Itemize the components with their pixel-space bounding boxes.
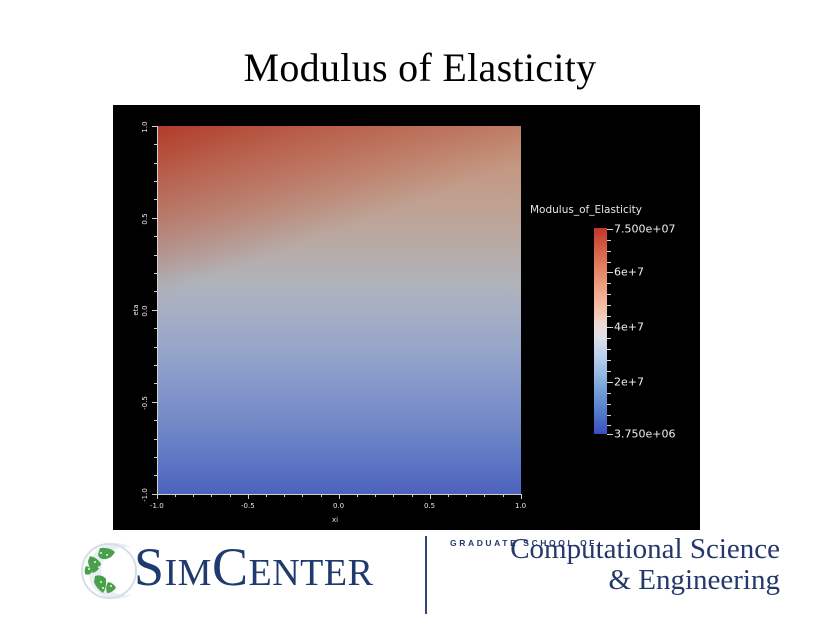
colorbar-tick — [607, 382, 613, 383]
y-tick-minor — [154, 457, 157, 458]
y-tick-major — [152, 126, 157, 127]
y-tick-minor — [154, 383, 157, 384]
colorbar-tick — [607, 360, 611, 361]
y-tick-minor — [154, 439, 157, 440]
x-tick-minor — [266, 494, 267, 497]
x-tick-label: 0.5 — [424, 502, 435, 510]
colorbar-tick — [607, 415, 611, 416]
colorbar-tick — [607, 393, 611, 394]
y-tick-major — [152, 218, 157, 219]
y-tick-minor — [154, 255, 157, 256]
colorbar-tick-label: 4e+7 — [614, 321, 644, 334]
y-tick-minor — [154, 199, 157, 200]
x-tick-major — [521, 494, 522, 499]
colorbar-tick — [607, 338, 611, 339]
x-tick-minor — [193, 494, 194, 497]
y-tick-minor — [154, 347, 157, 348]
y-tick-minor — [154, 236, 157, 237]
x-tick-minor — [357, 494, 358, 497]
x-tick-minor — [484, 494, 485, 497]
visualization-panel[interactable]: -1.0 -0.5 0.0 0.5 1.0 1.0 0.5 0.0 -0.5 -… — [113, 105, 700, 530]
x-tick-label: -1.0 — [150, 502, 164, 510]
colorbar-title: Modulus_of_Elasticity — [530, 204, 642, 216]
x-tick-label: 1.0 — [515, 502, 526, 510]
simcenter-wordmark: SimCenter — [134, 540, 373, 594]
x-tick-minor — [375, 494, 376, 497]
x-tick-minor — [393, 494, 394, 497]
y-tick-label: -1.0 — [141, 485, 149, 505]
logo-subtitle-line2: & Engineering — [440, 565, 780, 596]
logo-divider — [425, 536, 427, 614]
x-tick-minor — [175, 494, 176, 497]
colorbar-tick — [607, 272, 613, 273]
y-tick-label: 0.0 — [141, 301, 149, 321]
x-tick-major — [430, 494, 431, 499]
colorbar-tick — [607, 283, 611, 284]
y-tick-label: -0.5 — [141, 393, 149, 413]
colorbar-tick — [607, 240, 611, 241]
colorbar-tick — [607, 305, 611, 306]
colorbar-gradient[interactable] — [594, 228, 607, 434]
colorbar-tick-label: 3.750e+06 — [614, 428, 675, 441]
colorbar-tick — [607, 262, 611, 263]
x-tick-minor — [321, 494, 322, 497]
colorbar-tick-label: 7.500e+07 — [614, 223, 675, 236]
colorbar-tick — [607, 229, 613, 230]
y-tick-minor — [154, 273, 157, 274]
y-tick-minor — [154, 475, 157, 476]
colorbar-tick-label: 6e+7 — [614, 266, 644, 279]
x-tick-label: -0.5 — [241, 502, 255, 510]
y-tick-minor — [154, 420, 157, 421]
x-tick-label: 0.0 — [333, 502, 344, 510]
y-tick-minor — [154, 365, 157, 366]
colorbar-tick — [607, 327, 613, 328]
colorbar-tick — [607, 316, 611, 317]
x-tick-minor — [284, 494, 285, 497]
y-tick-major — [152, 402, 157, 403]
y-tick-label: 0.5 — [141, 209, 149, 229]
colorbar-tick — [607, 404, 611, 405]
x-tick-minor — [412, 494, 413, 497]
x-tick-minor — [302, 494, 303, 497]
y-tick-minor — [154, 181, 157, 182]
x-tick-major — [157, 494, 158, 499]
y-tick-minor — [154, 328, 157, 329]
simcenter-logo: SimCenter GRADUATE SCHOOL OF Computation… — [78, 532, 778, 620]
x-tick-minor — [211, 494, 212, 497]
colorbar-tick — [607, 434, 613, 435]
x-tick-major — [339, 494, 340, 499]
colorbar-tick — [607, 371, 611, 372]
colorbar-tick — [607, 251, 611, 252]
x-tick-major — [248, 494, 249, 499]
page-title: Modulus of Elasticity — [0, 48, 840, 88]
y-tick-label: 1.0 — [141, 117, 149, 137]
x-tick-minor — [230, 494, 231, 497]
colorbar-tick — [607, 294, 611, 295]
heatmap-plot-area[interactable] — [157, 126, 521, 494]
logo-subtitle-line1: Computational Science — [440, 534, 780, 565]
y-tick-major — [152, 494, 157, 495]
y-tick-minor — [154, 144, 157, 145]
colorbar-tick-label: 2e+7 — [614, 376, 644, 389]
colorbar-tick — [607, 349, 611, 350]
y-tick-minor — [154, 163, 157, 164]
y-tick-major — [152, 310, 157, 311]
x-axis-title: xi — [332, 516, 338, 524]
y-tick-minor — [154, 291, 157, 292]
y-axis-line — [157, 126, 158, 495]
x-tick-minor — [448, 494, 449, 497]
y-axis-title: eta — [132, 300, 140, 320]
x-tick-minor — [466, 494, 467, 497]
logo-subtitle: Computational Science & Engineering — [440, 534, 780, 595]
heatmap-color-field — [157, 126, 521, 494]
x-tick-minor — [503, 494, 504, 497]
colorbar-tick — [607, 425, 611, 426]
